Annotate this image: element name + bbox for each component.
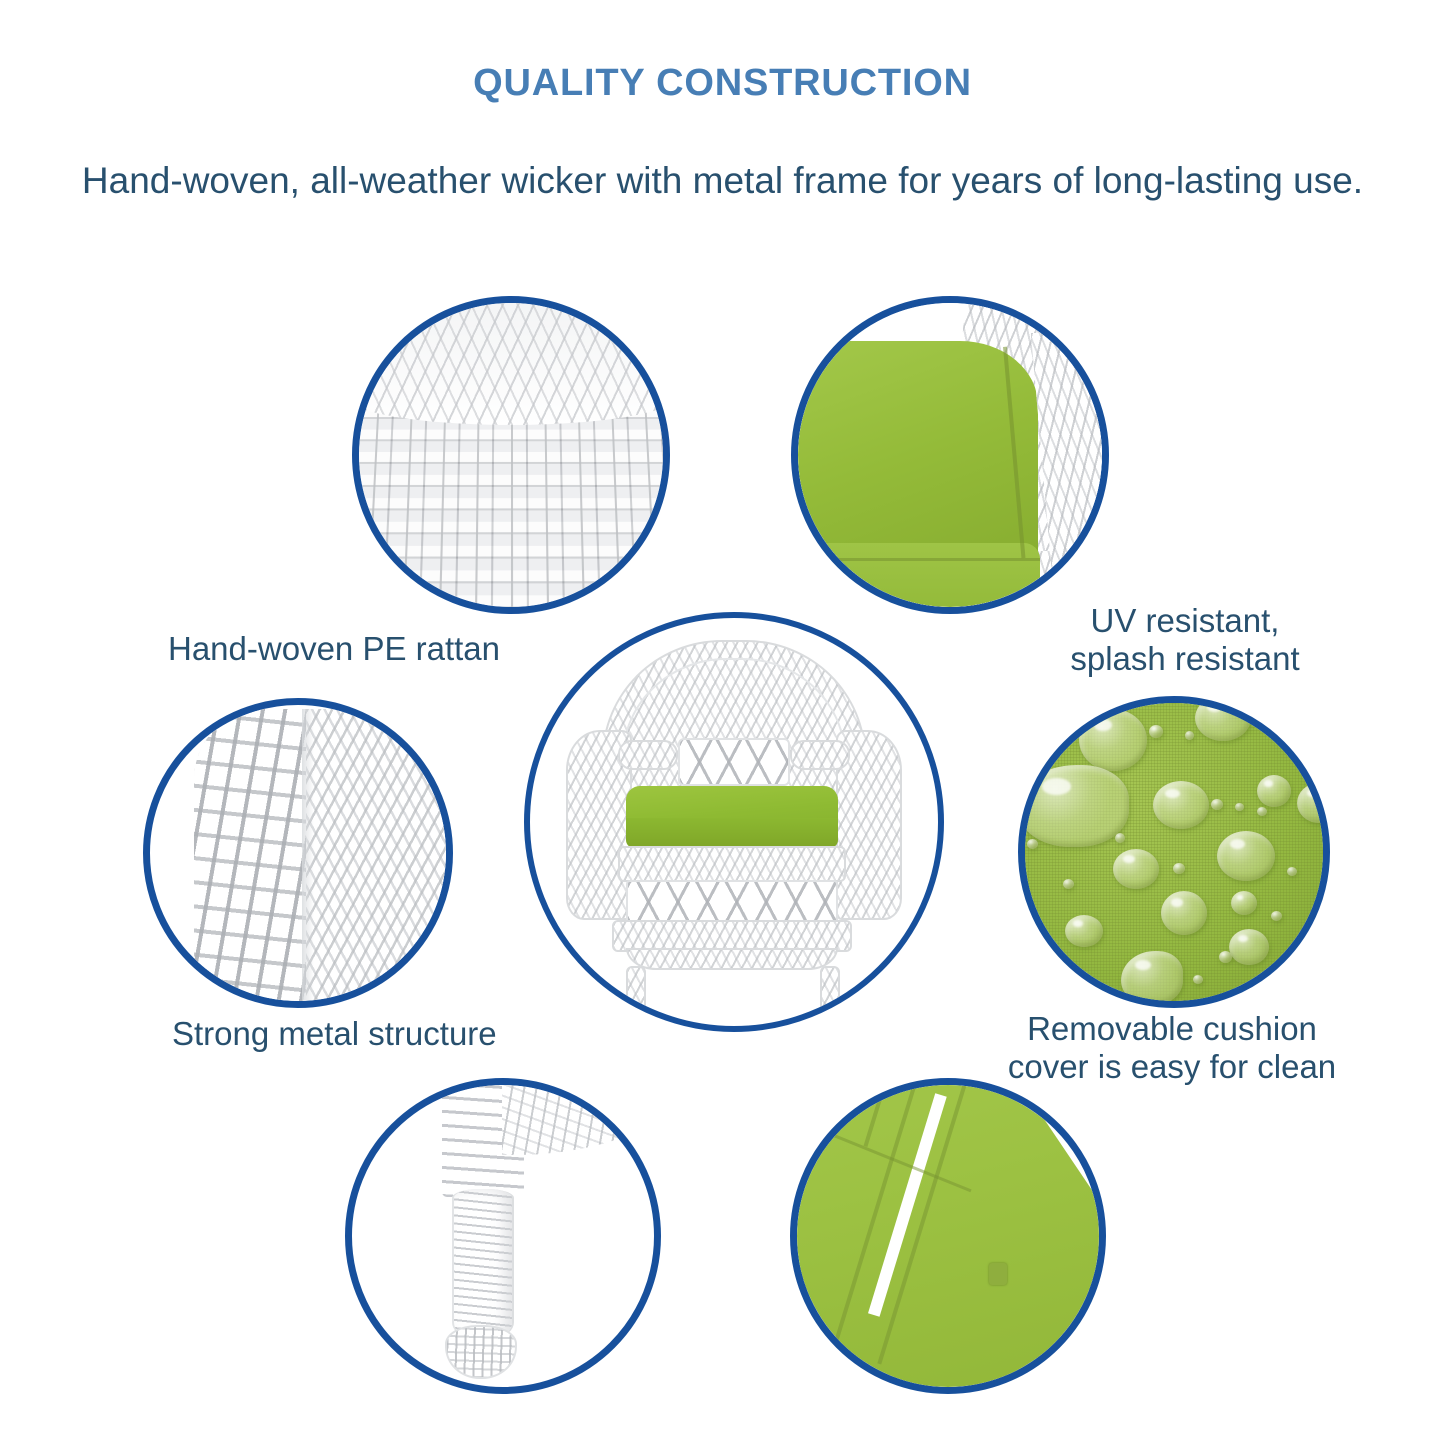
cushion-closeup-texture bbox=[798, 303, 1102, 607]
armrest-mesh-texture bbox=[150, 705, 446, 1001]
page-subtitle: Hand-woven, all-weather wicker with meta… bbox=[0, 160, 1445, 202]
cushion-zipper-texture bbox=[797, 1085, 1099, 1387]
page-title: QUALITY CONSTRUCTION bbox=[0, 62, 1445, 105]
wicker-armchair bbox=[530, 618, 938, 1026]
caption-strong-metal-structure: Strong metal structure bbox=[172, 1015, 602, 1053]
feature-image-hand-woven-pe-rattan bbox=[352, 296, 670, 614]
caption-hand-woven-pe-rattan: Hand-woven PE rattan bbox=[168, 630, 588, 668]
feature-image-uv-splash-resistant bbox=[791, 296, 1109, 614]
caption-removable-cushion-cover: Removable cushion cover is easy for clea… bbox=[982, 1010, 1362, 1087]
feature-image-removable-cushion-cover bbox=[1018, 696, 1330, 1008]
infographic-page: QUALITY CONSTRUCTION Hand-woven, all-wea… bbox=[0, 0, 1445, 1445]
water-droplet-fabric-texture bbox=[1025, 703, 1323, 1001]
wicker-weave-texture bbox=[359, 303, 663, 607]
chair-leg-texture bbox=[352, 1085, 654, 1387]
feature-image-chair-leg-detail bbox=[345, 1078, 661, 1394]
caption-uv-splash-resistant: UV resistant, splash resistant bbox=[1020, 602, 1350, 679]
feature-image-strong-metal-structure bbox=[143, 698, 453, 1008]
feature-image-zipper-detail bbox=[790, 1078, 1106, 1394]
product-hero-image bbox=[524, 612, 944, 1032]
